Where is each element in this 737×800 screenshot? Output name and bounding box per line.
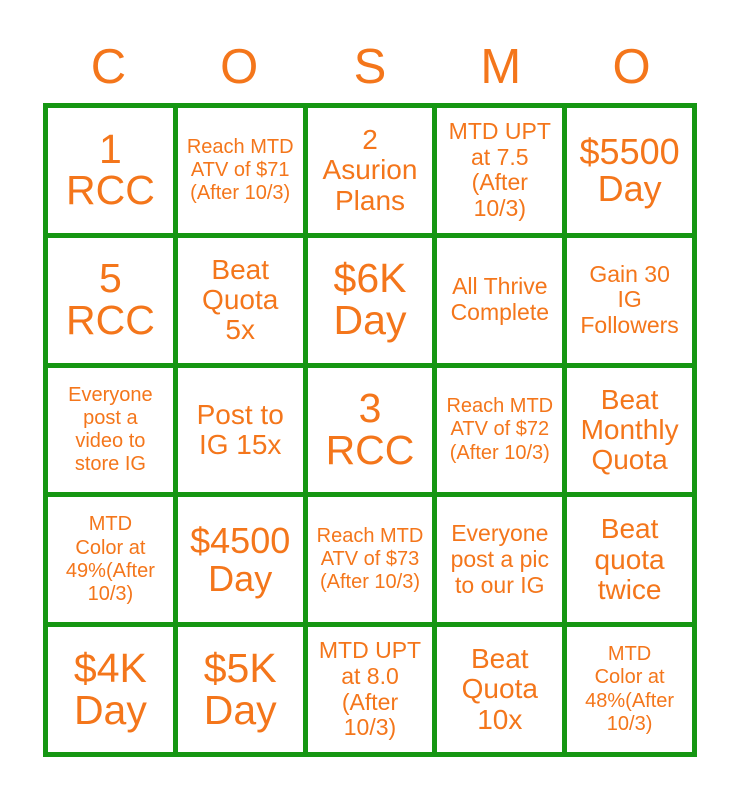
bingo-square-r4-c4[interactable]: Everyone post a pic to our IG	[437, 497, 562, 622]
bingo-square-r1-c5[interactable]: $5500 Day	[567, 108, 692, 233]
bingo-square-label: Everyone post a video to store IG	[51, 384, 170, 477]
header-letter-2: O	[174, 36, 305, 98]
bingo-square-label: Reach MTD ATV of $73 (After 10/3)	[311, 525, 430, 595]
bingo-square-label: 2 Asurion Plans	[311, 125, 430, 216]
bingo-square-label: Post to IG 15x	[181, 400, 300, 460]
bingo-square-label: MTD Color at 48%(After 10/3)	[570, 643, 689, 736]
bingo-square-label: Beat quota twice	[570, 514, 689, 605]
bingo-square-r5-c4[interactable]: Beat Quota 10x	[437, 627, 562, 752]
bingo-square-label: MTD UPT at 8.0 (After 10/3)	[311, 638, 430, 741]
bingo-square-label: $6K Day	[311, 258, 430, 342]
bingo-square-r1-c2[interactable]: Reach MTD ATV of $71 (After 10/3)	[178, 108, 303, 233]
bingo-square-r5-c3[interactable]: MTD UPT at 8.0 (After 10/3)	[308, 627, 433, 752]
bingo-square-label: Gain 30 IG Followers	[570, 262, 689, 339]
bingo-square-label: Reach MTD ATV of $72 (After 10/3)	[440, 395, 559, 465]
bingo-square-r2-c5[interactable]: Gain 30 IG Followers	[567, 238, 692, 363]
bingo-square-label: 3 RCC	[311, 388, 430, 472]
bingo-square-r1-c1[interactable]: 1 RCC	[48, 108, 173, 233]
bingo-square-r5-c1[interactable]: $4K Day	[48, 627, 173, 752]
bingo-square-label: Beat Monthly Quota	[570, 385, 689, 476]
bingo-square-label: Everyone post a pic to our IG	[440, 521, 559, 598]
header-letter-5: O	[566, 36, 697, 98]
bingo-square-r2-c4[interactable]: All Thrive Complete	[437, 238, 562, 363]
bingo-square-label: Beat Quota 10x	[440, 644, 559, 735]
bingo-square-r3-c1[interactable]: Everyone post a video to store IG	[48, 368, 173, 493]
bingo-square-label: Beat Quota 5x	[181, 255, 300, 346]
bingo-square-r5-c2[interactable]: $5K Day	[178, 627, 303, 752]
bingo-square-label: $4500 Day	[181, 522, 300, 597]
header-letter-3: S	[305, 36, 436, 98]
header-letter-4: M	[435, 36, 566, 98]
bingo-square-r4-c1[interactable]: MTD Color at 49%(After 10/3)	[48, 497, 173, 622]
bingo-square-label: $5500 Day	[570, 133, 689, 208]
bingo-square-label: 1 RCC	[51, 129, 170, 213]
bingo-square-r3-c5[interactable]: Beat Monthly Quota	[567, 368, 692, 493]
bingo-square-label: $5K Day	[181, 648, 300, 732]
bingo-square-label: MTD Color at 49%(After 10/3)	[51, 513, 170, 606]
bingo-square-r4-c5[interactable]: Beat quota twice	[567, 497, 692, 622]
bingo-square-label: 5 RCC	[51, 258, 170, 342]
bingo-square-r2-c2[interactable]: Beat Quota 5x	[178, 238, 303, 363]
bingo-square-label: Reach MTD ATV of $71 (After 10/3)	[181, 136, 300, 206]
bingo-square-label: MTD UPT at 7.5 (After 10/3)	[440, 119, 559, 222]
bingo-square-r3-c4[interactable]: Reach MTD ATV of $72 (After 10/3)	[437, 368, 562, 493]
bingo-card: C O S M O 1 RCCReach MTD ATV of $71 (Aft…	[0, 0, 737, 800]
bingo-square-r3-c2[interactable]: Post to IG 15x	[178, 368, 303, 493]
bingo-square-r1-c3[interactable]: 2 Asurion Plans	[308, 108, 433, 233]
bingo-square-r1-c4[interactable]: MTD UPT at 7.5 (After 10/3)	[437, 108, 562, 233]
bingo-header: C O S M O	[43, 36, 697, 98]
header-letter-1: C	[43, 36, 174, 98]
bingo-square-r2-c1[interactable]: 5 RCC	[48, 238, 173, 363]
bingo-square-r5-c5[interactable]: MTD Color at 48%(After 10/3)	[567, 627, 692, 752]
bingo-square-r3-c3[interactable]: 3 RCC	[308, 368, 433, 493]
bingo-square-label: All Thrive Complete	[440, 274, 559, 326]
bingo-square-r2-c3[interactable]: $6K Day	[308, 238, 433, 363]
bingo-square-r4-c3[interactable]: Reach MTD ATV of $73 (After 10/3)	[308, 497, 433, 622]
bingo-grid: 1 RCCReach MTD ATV of $71 (After 10/3)2 …	[43, 103, 697, 757]
bingo-square-r4-c2[interactable]: $4500 Day	[178, 497, 303, 622]
bingo-square-label: $4K Day	[51, 648, 170, 732]
